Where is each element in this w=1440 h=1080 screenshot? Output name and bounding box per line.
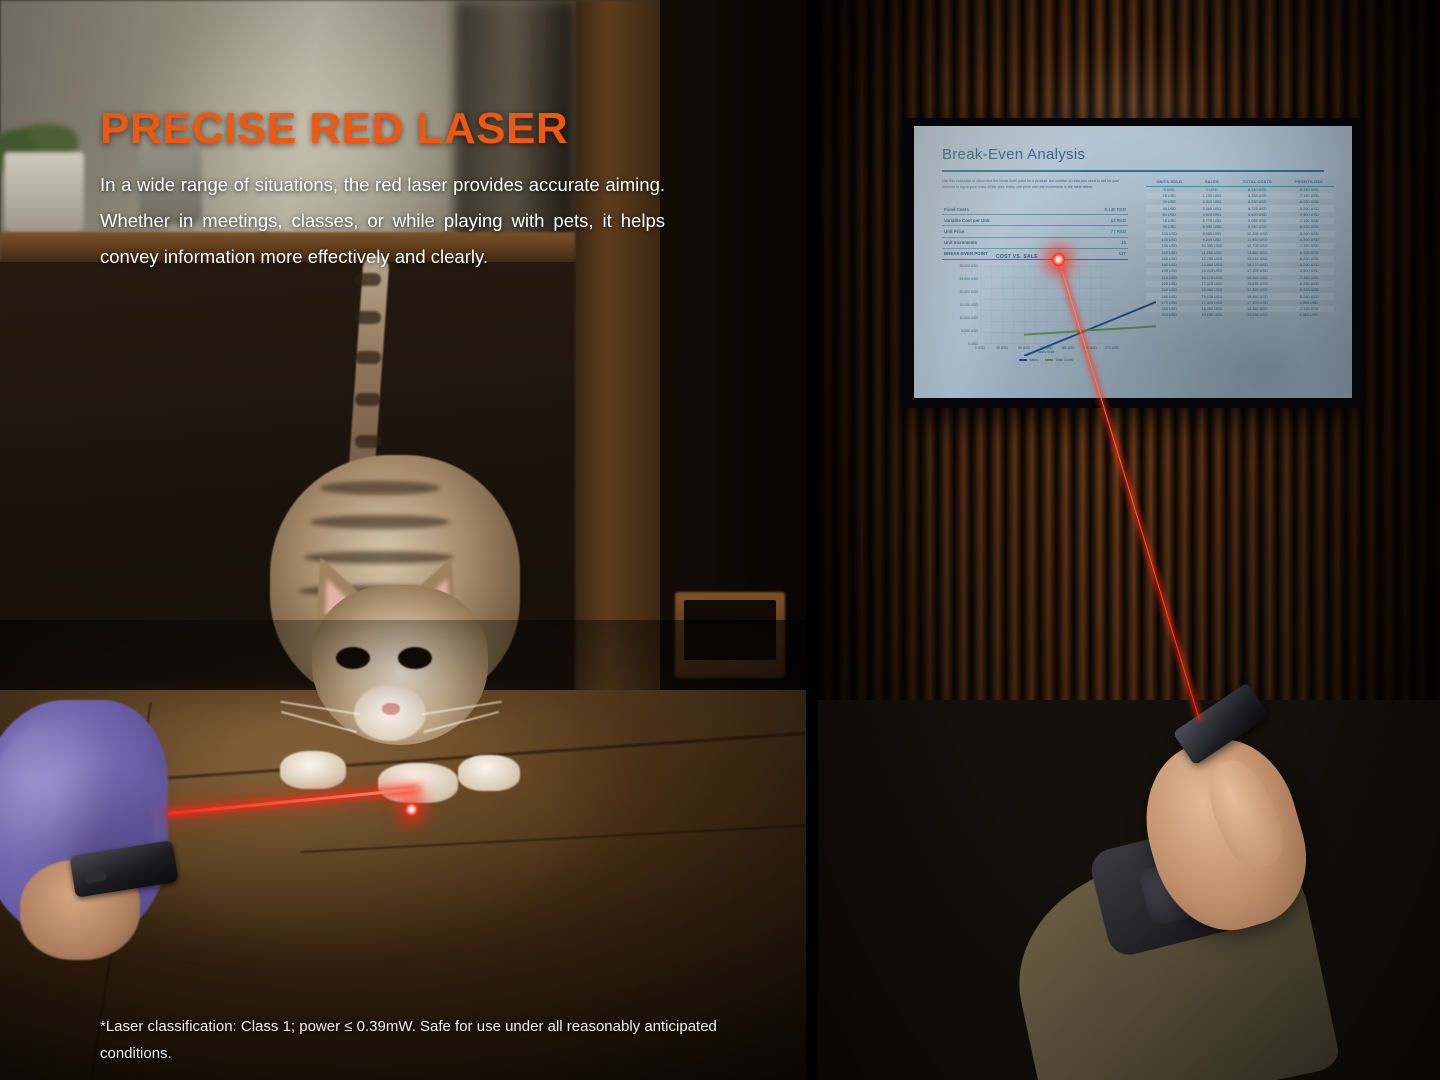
chart-title: COST VS. SALE [996, 254, 1038, 260]
chart-y-tick: 10,000 USD [960, 316, 978, 320]
laser-dot [404, 802, 419, 817]
chart-x-tick: 90 USD [1018, 346, 1030, 350]
input-value: 15 [1121, 240, 1126, 245]
panel-divider [806, 0, 818, 1080]
chart-x-tick: 180 USD [1061, 346, 1075, 350]
table-header-row: UNITS SOLDSALESTOTAL COSTSPROFIT/LOSS [1146, 178, 1334, 186]
legend-label-total-costs: Total Costs [1055, 358, 1073, 362]
table-cell: 8,140 USD [1231, 186, 1283, 193]
table-cell: 4,300 USD [1283, 312, 1334, 318]
cat-tail-stripe [355, 311, 381, 324]
feature-description: In a wide range of situations, the red l… [100, 167, 665, 275]
cat-fur-stripe [310, 515, 450, 529]
column-header-2: TOTAL COSTS [1231, 178, 1283, 186]
cat-tail-stripe [355, 351, 381, 364]
input-label: Unit Increments [944, 240, 977, 245]
table-cell: 0 USD [1192, 186, 1231, 193]
table-cell: 19,636 USD [1192, 312, 1231, 318]
left-panel-cat-scene: PRECISE RED LASER In a wide range of sit… [0, 0, 806, 1080]
inputs-table: Fixed Costs 8,140 RSD Variable Cost per … [942, 204, 1128, 260]
table-cell: 19,636 USD [1231, 312, 1283, 318]
input-label: Variable Cost per Unit [944, 218, 990, 223]
column-header-0: UNITS SOLD [1146, 178, 1192, 186]
page-title: PRECISE RED LASER [100, 104, 568, 154]
table-row: Variable Cost per Unit 13 RSD [942, 215, 1128, 226]
product-feature-banner: PRECISE RED LASER In a wide range of sit… [0, 0, 1440, 1080]
table-row: 300 USD19,636 USD19,636 USD4,300 USD [1146, 312, 1334, 318]
slide-intro-text: Use this calculator to determine the bre… [942, 178, 1128, 190]
chart-y-tick: 20,000 USD [960, 290, 978, 294]
table-cell: 300 USD [1146, 312, 1192, 318]
chart-y-tick: 25,000 USD [960, 277, 978, 281]
cost-vs-sale-chart: COST VS. SALE 30,000 USD25,000 USD20,000… [936, 254, 1132, 378]
table-cell: -8,140 USD [1283, 186, 1334, 193]
chart-x-tick: 135 USD [1039, 346, 1053, 350]
input-label: Fixed Costs [944, 207, 969, 212]
table-body: 0 USD0 USD8,140 USD-8,140 USD15 USD1,155… [1146, 186, 1334, 318]
chart-x-tick: 45 USD [996, 346, 1008, 350]
table-row: Fixed Costs 8,140 RSD [942, 204, 1128, 215]
cat-tail-stripe [355, 273, 381, 286]
input-value: 13 RSD [1111, 218, 1126, 223]
chart-y-tick: 5,000 USD [961, 329, 978, 333]
legend-swatch-sales [1019, 359, 1027, 361]
presentation-screen: Break-Even Analysis Use this calculator … [914, 126, 1352, 398]
laser-safety-footnote: *Laser classification: Class 1; power ≤ … [100, 1013, 760, 1067]
input-value: 8,140 RSD [1105, 207, 1126, 212]
table-row: Unit Increments 15 [942, 238, 1128, 249]
chart-y-tick: 30,000 USD [960, 264, 978, 268]
laser-dot [1051, 252, 1066, 267]
chart-x-tick: 270 USD [1105, 346, 1119, 350]
slide-break-even-analysis: Break-Even Analysis Use this calculator … [914, 126, 1352, 398]
table-row: Unit Price 77 RSD [942, 226, 1128, 237]
column-header-3: PROFIT/LOSS [1283, 178, 1334, 186]
chart-y-tick: 15,000 USD [960, 303, 978, 307]
flower-pot [4, 152, 84, 234]
cat-tail-stripe [355, 435, 381, 448]
legend-label-sales: Sales [1029, 358, 1038, 362]
input-value: 77 RSD [1111, 229, 1126, 234]
chart-legend: SalesTotal Costs [980, 358, 1112, 362]
table-row: 0 USD0 USD8,140 USD-8,140 USD [1146, 186, 1334, 193]
projection-table: UNITS SOLDSALESTOTAL COSTSPROFIT/LOSS 0 … [1146, 178, 1334, 319]
cat-tail-stripe [355, 393, 381, 406]
chart-x-tick: 0 USD [975, 346, 985, 350]
chart-line-total-costs [1024, 326, 1156, 334]
slide-title: Break-Even Analysis [942, 146, 1085, 163]
input-label: Unit Price [944, 229, 965, 234]
table-cell: 0 USD [1146, 186, 1192, 193]
chart-series-lines [1024, 278, 1156, 356]
legend-swatch-total-costs [1045, 359, 1053, 361]
cat-fur-stripe [320, 481, 440, 495]
column-header-1: SALES [1192, 178, 1231, 186]
chart-plot-area: 30,000 USD25,000 USD20,000 USD15,000 USD… [980, 266, 1112, 344]
chart-x-axis-label: Units Sold [980, 350, 1112, 354]
slide-title-rule [942, 170, 1324, 172]
